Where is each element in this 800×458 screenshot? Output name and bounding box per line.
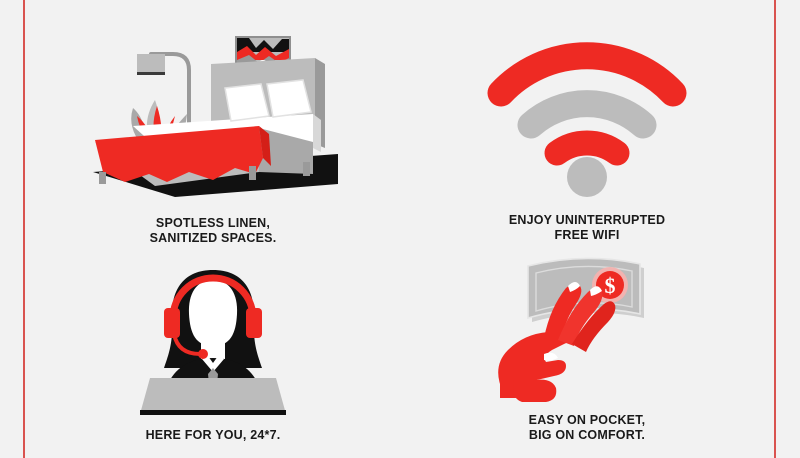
- wifi-illustration: [482, 30, 692, 195]
- left-vertical-rule: [23, 0, 25, 458]
- bed-icon: [63, 22, 363, 202]
- feature-card-spotless-linen: SPOTLESS LINEN, SANITIZED SPACES.: [26, 0, 400, 248]
- feature-caption: ENJOY UNINTERRUPTED FREE WIFI: [509, 213, 665, 243]
- dollar-symbol: $: [605, 273, 616, 298]
- feature-caption: SPOTLESS LINEN, SANITIZED SPACES.: [150, 216, 277, 246]
- right-vertical-rule: [774, 0, 776, 458]
- support-agent-illustration: [133, 264, 293, 414]
- feature-card-support-247: HERE FOR YOU, 24*7.: [26, 248, 400, 458]
- feature-grid: SPOTLESS LINEN, SANITIZED SPACES. ENJOY …: [26, 0, 774, 458]
- hand-holding-money-icon: $: [492, 252, 682, 407]
- wifi-icon: [487, 35, 687, 195]
- feature-caption: HERE FOR YOU, 24*7.: [146, 428, 281, 443]
- feature-card-easy-on-pocket: $ EASY ON POCKET, BIG ON COMFORT.: [400, 248, 774, 458]
- hand-money-illustration: $: [492, 252, 682, 407]
- support-agent-icon: [138, 264, 288, 414]
- bed-illustration: [63, 22, 363, 202]
- feature-card-free-wifi: ENJOY UNINTERRUPTED FREE WIFI: [400, 0, 774, 248]
- feature-caption: EASY ON POCKET, BIG ON COMFORT.: [529, 413, 646, 443]
